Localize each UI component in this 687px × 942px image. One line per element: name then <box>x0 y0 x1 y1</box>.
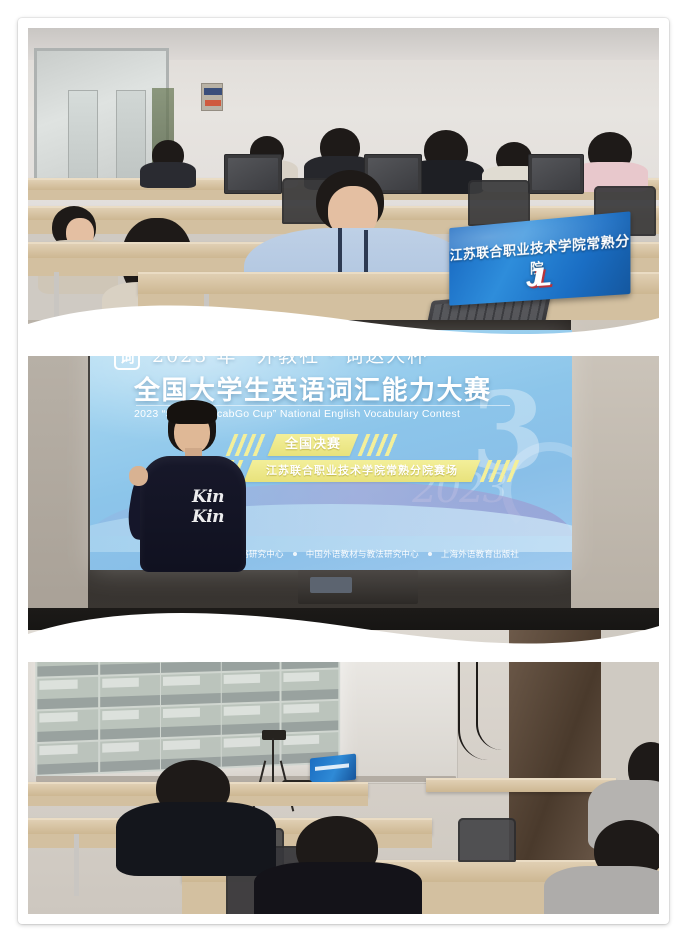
cctv-tile <box>37 644 98 677</box>
cable <box>476 654 502 750</box>
cctv-tile <box>100 643 160 675</box>
student-torso <box>140 162 196 188</box>
tshirt-graphic: Kin Kin <box>180 488 236 527</box>
cctv-tile <box>161 705 220 738</box>
podium <box>298 570 418 604</box>
person-torso <box>544 866 659 914</box>
footer-org-2: 中国外语教材与教法研究中心 <box>306 548 419 560</box>
ribbon-venue-label: 江苏联合职业技术学院常熟分院赛场 <box>248 460 476 482</box>
desk-placard <box>310 754 356 785</box>
cctv-tile <box>37 709 98 742</box>
cctv-tile <box>161 641 220 673</box>
person-torso <box>254 862 422 914</box>
podium-control-screen <box>310 577 352 593</box>
speaker-hair <box>167 400 217 424</box>
footer-dot-icon <box>293 552 297 556</box>
tshirt-graphic-line2: Kin <box>180 508 236 528</box>
cctv-tile <box>100 739 160 772</box>
chair <box>458 818 516 862</box>
desk <box>426 778 616 792</box>
monitor <box>528 154 584 194</box>
cctv-tile <box>222 640 280 672</box>
cctv-tile <box>100 707 160 740</box>
projector-cabinet <box>338 642 458 784</box>
left-wall <box>28 320 88 650</box>
cctv-tile <box>37 741 98 774</box>
ribbon-venue: 江苏联合职业技术学院常熟分院赛场 <box>244 460 481 482</box>
cctv-tile <box>281 669 338 701</box>
classroom-scene: 江苏联合职业技术学院常熟分院 JL <box>28 28 659 338</box>
hatch-decor <box>358 434 401 456</box>
cctv-tile <box>222 671 280 703</box>
ribbon-national-final-label: 全国决赛 <box>272 434 354 456</box>
person-torso <box>116 802 276 876</box>
computer-classroom-photo: 江苏联合职业技术学院常熟分院 JL <box>28 28 659 338</box>
cctv-tile <box>161 673 220 705</box>
slide-title-line1: 2023 年 “外教社 · 词达人杯” <box>152 341 452 368</box>
right-wall <box>571 320 659 650</box>
cctv-tile <box>281 638 338 669</box>
speaker-hand <box>129 466 148 486</box>
wall-control-panel <box>201 83 223 111</box>
ribbon-national-final: 全国决赛 <box>268 434 359 456</box>
camera-head <box>262 730 286 740</box>
footer-dot-icon <box>428 552 432 556</box>
table-name-placard: 江苏联合职业技术学院常熟分院 JL <box>449 211 630 305</box>
footer-org-3: 上海外语教育出版社 <box>441 548 519 560</box>
cctv-tile <box>281 701 338 733</box>
photo-collage-inner: 江苏联合职业技术学院常熟分院 JL 3 2023 <box>28 28 659 914</box>
hatch-decor <box>226 434 269 456</box>
cctv-tile <box>100 675 160 708</box>
presentation-scene: 3 2023 词 2023 年 “外教社 · 词达人杯” 全国大学生英语词汇能力… <box>28 320 659 650</box>
desk-leg <box>74 834 79 896</box>
cctv-grid-projection <box>35 636 340 777</box>
cctv-tile <box>37 677 98 710</box>
photo-collage-frame: 江苏联合职业技术学院常熟分院 JL 3 2023 <box>18 18 669 924</box>
vocabgo-logo-icon: 词 <box>114 344 140 370</box>
tshirt-graphic-line1: Kin <box>180 488 236 508</box>
monitor <box>224 154 282 194</box>
chair <box>468 180 530 226</box>
monitoring-scene <box>28 630 659 914</box>
monitoring-room-photo <box>28 630 659 914</box>
presentation-slide-photo: 3 2023 词 2023 年 “外教社 · 词达人杯” 全国大学生英语词汇能力… <box>28 320 659 650</box>
